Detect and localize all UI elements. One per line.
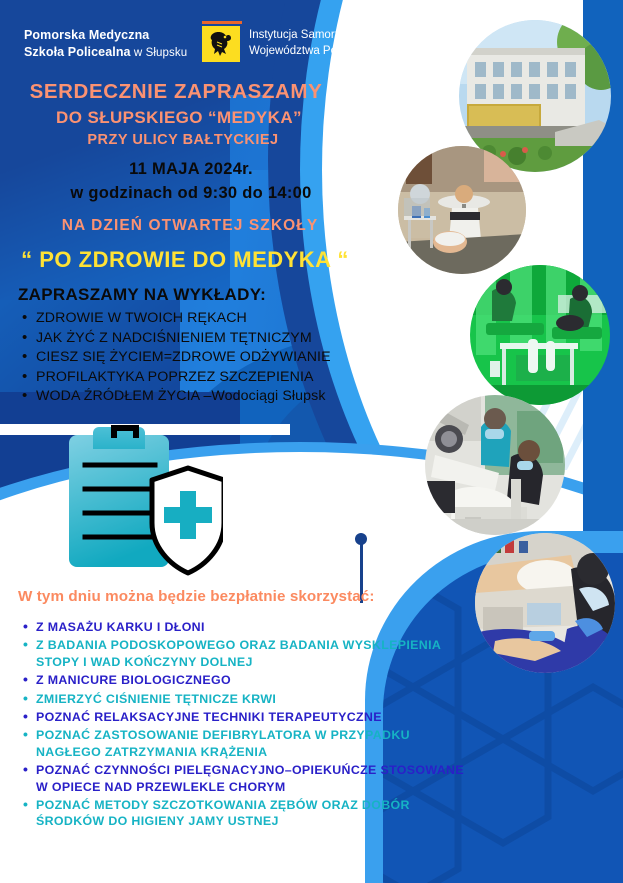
services-block: W tym dniu można będzie bezpłatnie skorz… xyxy=(0,588,470,832)
list-item: ZDROWIE W TWOICH RĘKACH xyxy=(36,309,400,329)
institution-line2: Województwa Pomorskiego xyxy=(249,44,390,60)
list-item: POZNAĆ METODY SZCZOTKOWANIA ZĘBÓW ORAZ D… xyxy=(36,797,470,830)
event-slogan: “ PO ZDROWIE DO MEDYKA “ xyxy=(0,247,370,273)
services-heading: W tym dniu można będzie bezpłatnie skorz… xyxy=(18,588,470,605)
services-list: Z MASAŻU KARKU I DŁONI Z BADANIA PODOSKO… xyxy=(0,619,470,830)
school-city: w Słupsku xyxy=(131,47,188,59)
map-pin-icon xyxy=(355,533,367,545)
photo-nursing-simulation xyxy=(470,265,610,405)
institution-name: Instytucja Samorządu Województwa Pomorsk… xyxy=(249,28,390,59)
header: Pomorska Medyczna Szkoła Policealna w Sł… xyxy=(0,0,623,78)
list-item: Z MANICURE BIOLOGICZNEGO xyxy=(36,672,470,688)
photo-podiatry-care xyxy=(475,533,615,673)
poster-root: Pomorska Medyczna Szkoła Policealna w Sł… xyxy=(0,0,623,883)
institution-line1: Instytucja Samorządu xyxy=(249,28,390,44)
crest-orange-line xyxy=(202,21,242,24)
event-time: w godzinach od 9:30 do 14:00 xyxy=(0,184,382,203)
list-item: Z BADANIA PODOSKOPOWEGO ORAZ BADANIA WYS… xyxy=(36,637,470,670)
list-item: POZNAĆ RELAKSACYJNE TECHNIKI TERAPEUTYCZ… xyxy=(36,709,470,725)
lectures-heading: ZAPRASZAMY NA WYKŁADY: xyxy=(18,285,400,305)
pomorskie-griffin-crest-icon xyxy=(202,26,240,62)
crest-block xyxy=(202,21,242,62)
list-item: JAK ŻYĆ Z NADCIŚNIENIEM TĘTNICZYM xyxy=(36,329,400,349)
list-item: ZMIERZYĆ CIŚNIENIE TĘTNICZE KRWI xyxy=(36,691,470,707)
photo-cosmetology-treatment xyxy=(398,146,526,274)
main-text-block: SERDECZNIE ZAPRASZAMY DO SŁUPSKIEGO “MED… xyxy=(0,80,400,407)
list-item: PROFILAKTYKA POPRZEZ SZCZEPIENIA xyxy=(36,368,400,388)
school-name: Pomorska Medyczna Szkoła Policealna w Sł… xyxy=(24,27,187,62)
invite-line-2: DO SŁUPSKIEGO “MEDYKA” xyxy=(0,108,358,128)
invite-line-1: SERDECZNIE ZAPRASZAMY xyxy=(0,80,352,104)
invite-line-3: PRZY ULICY BAŁTYCKIEJ xyxy=(0,132,366,148)
list-item: POZNAĆ ZASTOSOWANIE DEFIBRYLATORA W PRZY… xyxy=(36,727,470,760)
list-item: Z MASAŻU KARKU I DŁONI xyxy=(36,619,470,635)
list-item: POZNAĆ CZYNNOŚCI PIELĘGNACYJNO–OPIEKUŃCZ… xyxy=(36,762,470,795)
open-day-label: NA DZIEŃ OTWARTEJ SZKOŁY xyxy=(0,217,380,235)
lectures-list: ZDROWIE W TWOICH RĘKACH JAK ŻYĆ Z NADCIŚ… xyxy=(0,309,400,407)
list-item: WODA ŹRÓDŁEM ŻYCIA –Wodociągi Słupsk xyxy=(36,387,400,407)
medical-clipboard-shield-icon xyxy=(63,425,223,585)
school-name-line1: Pomorska Medyczna xyxy=(24,27,187,44)
photo-dental-surgery xyxy=(425,395,565,535)
event-date: 11 MAJA 2024r. xyxy=(0,160,382,179)
school-name-line2: Szkoła Policealna w Słupsku xyxy=(24,44,187,62)
list-item: CIESZ SIĘ ŻYCIEM=ZDROWE ODŻYWIANIE xyxy=(36,348,400,368)
